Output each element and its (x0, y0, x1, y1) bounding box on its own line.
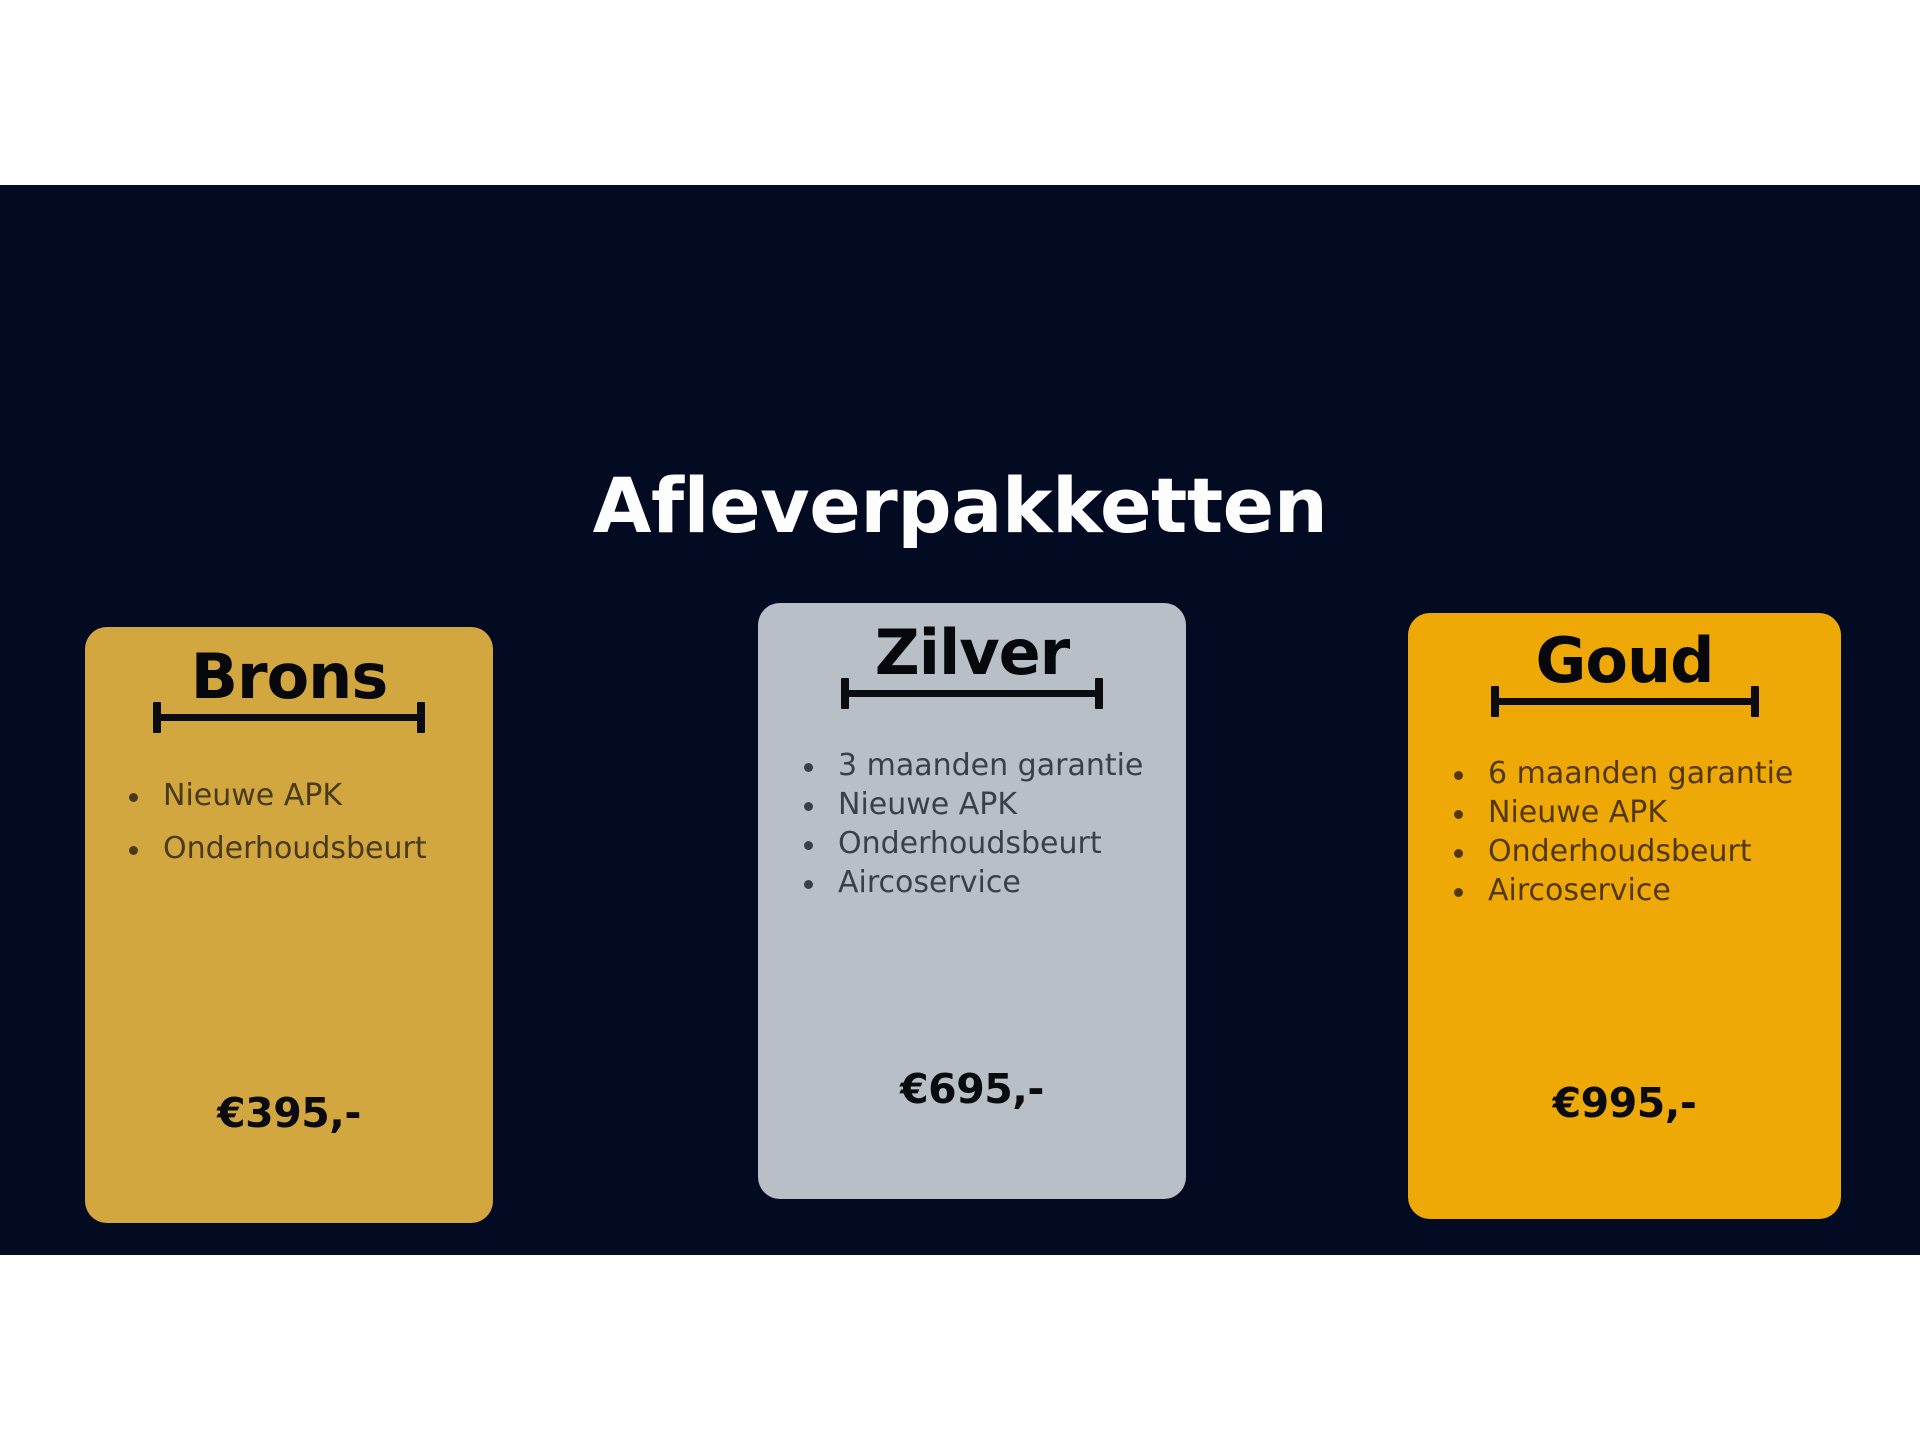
bullet-dot-icon (1454, 849, 1463, 858)
feature-label: Aircoservice (1488, 873, 1671, 908)
bullet-dot-icon (804, 841, 813, 850)
feature-list-goud: 6 maanden garantie Nieuwe APK Onderhouds… (1448, 754, 1841, 910)
list-item: Onderhoudsbeurt (798, 824, 1186, 863)
list-item: Nieuwe APK (123, 776, 493, 815)
package-card-zilver[interactable]: Zilver 3 maanden garantie Nieuwe APK Ond… (758, 603, 1186, 1199)
feature-label: Nieuwe APK (1488, 795, 1667, 830)
bullet-dot-icon (804, 802, 813, 811)
divider-cap-right-icon (417, 702, 425, 733)
page-title: Afleverpakketten (0, 468, 1920, 544)
bullet-dot-icon (129, 793, 138, 802)
feature-label: Nieuwe APK (838, 787, 1017, 822)
list-item: Onderhoudsbeurt (1448, 832, 1841, 871)
package-price-goud: €995,- (1408, 1079, 1841, 1127)
bullet-dot-icon (1454, 810, 1463, 819)
feature-label: Onderhoudsbeurt (163, 831, 427, 866)
list-item: Aircoservice (1448, 871, 1841, 910)
feature-label: 6 maanden garantie (1488, 756, 1793, 791)
package-card-brons[interactable]: Brons Nieuwe APK Onderhoudsbeurt €395,- (85, 627, 493, 1223)
dimension-line-divider-icon (153, 702, 425, 732)
list-item: Nieuwe APK (798, 785, 1186, 824)
feature-list-brons: Nieuwe APK Onderhoudsbeurt (123, 776, 493, 868)
package-title-brons: Brons (85, 645, 493, 708)
package-title-zilver: Zilver (758, 621, 1186, 684)
feature-list-zilver: 3 maanden garantie Nieuwe APK Onderhouds… (798, 746, 1186, 902)
dimension-line-divider-icon (841, 678, 1103, 708)
feature-label: Onderhoudsbeurt (1488, 834, 1752, 869)
bullet-dot-icon (804, 763, 813, 772)
feature-label: 3 maanden garantie (838, 748, 1143, 783)
package-price-zilver: €695,- (758, 1065, 1186, 1113)
package-price-brons: €395,- (85, 1089, 493, 1137)
bullet-dot-icon (1454, 888, 1463, 897)
list-item: 6 maanden garantie (1448, 754, 1841, 793)
feature-label: Onderhoudsbeurt (838, 826, 1102, 861)
list-item: Aircoservice (798, 863, 1186, 902)
list-item: Nieuwe APK (1448, 793, 1841, 832)
list-item: Onderhoudsbeurt (123, 829, 493, 868)
divider-bar-icon (841, 690, 1103, 697)
slide-panel: Afleverpakketten Brons Nieuwe APK Onderh… (0, 185, 1920, 1255)
feature-label: Aircoservice (838, 865, 1021, 900)
list-item: 3 maanden garantie (798, 746, 1186, 785)
divider-cap-right-icon (1751, 686, 1759, 717)
dimension-line-divider-icon (1491, 686, 1759, 716)
bullet-dot-icon (1454, 771, 1463, 780)
divider-cap-right-icon (1095, 678, 1103, 709)
package-title-goud: Goud (1408, 629, 1841, 692)
bullet-dot-icon (804, 880, 813, 889)
package-card-goud[interactable]: Goud 6 maanden garantie Nieuwe APK Onder… (1408, 613, 1841, 1219)
divider-bar-icon (153, 714, 425, 721)
feature-label: Nieuwe APK (163, 778, 342, 813)
divider-bar-icon (1491, 698, 1759, 705)
bullet-dot-icon (129, 846, 138, 855)
